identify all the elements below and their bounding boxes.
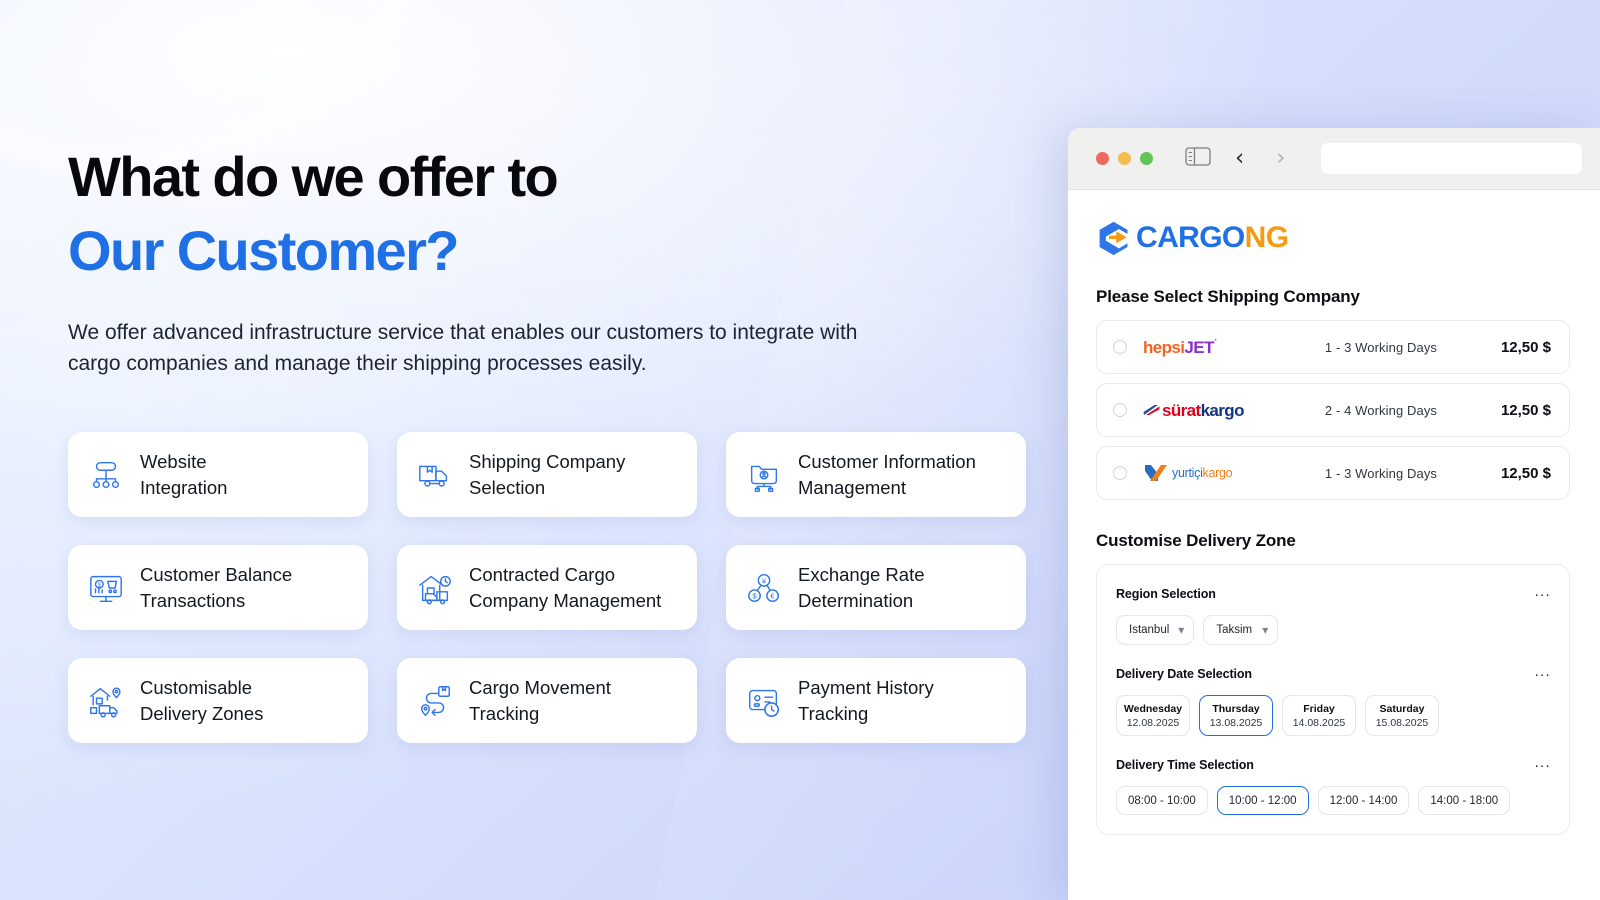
feature-card[interactable]: CustomisableDelivery Zones — [68, 658, 368, 743]
time-option-range: 14:00 - 18:00 — [1430, 795, 1498, 807]
feature-card-label: Customer BalanceTransactions — [140, 562, 292, 613]
svg-text:€: € — [770, 591, 775, 600]
feature-card-line1: Contracted Cargo — [469, 564, 615, 585]
date-option-weekday: Saturday — [1380, 703, 1425, 715]
svg-text:$: $ — [752, 591, 757, 600]
feature-card[interactable]: ¥$€Exchange RateDetermination — [726, 545, 1026, 630]
date-option[interactable]: Saturday15.08.2025 — [1365, 695, 1439, 736]
surat-swoosh-icon — [1143, 404, 1160, 416]
feature-card[interactable]: Contracted CargoCompany Management — [397, 545, 697, 630]
hero-subtitle: We offer advanced infrastructure service… — [68, 318, 878, 380]
shipping-section-title: Please Select Shipping Company — [1096, 287, 1600, 307]
suratkargo-wordmark: süratkargo — [1143, 402, 1244, 419]
page-title: What do we offer to Our Customer? — [68, 140, 1028, 288]
carrier-delivery-days: 2 - 4 Working Days — [1261, 403, 1501, 418]
close-window-button[interactable] — [1096, 152, 1109, 165]
warehouse-clock-icon — [416, 569, 454, 607]
date-option[interactable]: Friday14.08.2025 — [1282, 695, 1356, 736]
hepsijet-wordmark: hepsiJET´ — [1143, 339, 1217, 356]
chevron-left-icon[interactable]: ‹ — [1235, 147, 1244, 170]
carrier-price: 12,50 $ — [1501, 402, 1551, 419]
city-select-value: Istanbul — [1129, 624, 1169, 636]
monitor-cart-icon: $ — [87, 569, 125, 607]
feature-card-label: Exchange RateDetermination — [798, 562, 925, 613]
time-option-range: 10:00 - 12:00 — [1229, 795, 1297, 807]
feature-card[interactable]: Cargo MovementTracking — [397, 658, 697, 743]
district-select[interactable]: Taksim ▾ — [1203, 615, 1278, 645]
feature-card-line1: Website — [140, 451, 207, 472]
feature-card-label: Cargo MovementTracking — [469, 675, 611, 726]
feature-card[interactable]: WebsiteIntegration — [68, 432, 368, 517]
carrier-price: 12,50 $ — [1501, 465, 1551, 482]
time-ellipsis-icon[interactable]: ... — [1533, 753, 1553, 776]
date-option-weekday: Thursday — [1212, 703, 1259, 715]
feature-card-label: Shipping CompanySelection — [469, 449, 625, 500]
feature-card-line2: Tracking — [798, 703, 868, 724]
feature-card-line1: Cargo Movement — [469, 677, 611, 698]
date-option-date: 12.08.2025 — [1127, 717, 1180, 729]
carrier-row[interactable]: hepsiJET´1 - 3 Working Days12,50 $ — [1096, 320, 1570, 374]
date-ellipsis-icon[interactable]: ... — [1533, 662, 1553, 685]
sitemap-icon — [87, 456, 125, 494]
window-traffic-lights[interactable] — [1096, 152, 1153, 165]
feature-card-line1: Payment History — [798, 677, 934, 698]
delivery-zone-card: Region Selection ... Istanbul ▾ Taksim ▾… — [1096, 564, 1570, 835]
carrier-radio[interactable] — [1113, 340, 1127, 354]
date-option-weekday: Friday — [1303, 703, 1335, 715]
date-option-date: 13.08.2025 — [1210, 717, 1263, 729]
feature-card-line2: Delivery Zones — [140, 703, 263, 724]
time-selection-label: Delivery Time Selection — [1116, 758, 1254, 772]
carrier-radio[interactable] — [1113, 403, 1127, 417]
currency-exchange-icon: ¥$€ — [745, 569, 783, 607]
feature-card-label: CustomisableDelivery Zones — [140, 675, 263, 726]
feature-card[interactable]: $Customer BalanceTransactions — [68, 545, 368, 630]
time-option[interactable]: 08:00 - 10:00 — [1116, 786, 1208, 815]
time-option-range: 08:00 - 10:00 — [1128, 795, 1196, 807]
city-select[interactable]: Istanbul ▾ — [1116, 615, 1194, 645]
page-title-line2: Our Customer? — [68, 214, 1028, 288]
yurticikargo-wordmark: yurtiçikargo — [1143, 463, 1232, 483]
time-option[interactable]: 10:00 - 12:00 — [1217, 786, 1309, 815]
cargong-hex-arrow-logo — [1096, 220, 1132, 256]
carrier-logo: süratkargo — [1143, 402, 1261, 419]
date-option-date: 14.08.2025 — [1293, 717, 1346, 729]
carrier-row[interactable]: süratkargo2 - 4 Working Days12,50 $ — [1096, 383, 1570, 437]
district-select-value: Taksim — [1216, 624, 1252, 636]
feature-card-label: Payment HistoryTracking — [798, 675, 934, 726]
date-option[interactable]: Thursday13.08.2025 — [1199, 695, 1273, 736]
carrier-logo: hepsiJET´ — [1143, 339, 1261, 356]
zone-section-title: Customise Delivery Zone — [1096, 531, 1600, 551]
chevron-down-icon: ▾ — [1262, 623, 1268, 637]
hero-section: What do we offer to Our Customer? We off… — [68, 140, 1028, 380]
date-option[interactable]: Wednesday12.08.2025 — [1116, 695, 1190, 736]
date-option-date: 15.08.2025 — [1376, 717, 1429, 729]
feature-card-line1: Customisable — [140, 677, 252, 698]
carrier-delivery-days: 1 - 3 Working Days — [1261, 466, 1501, 481]
feature-card-line1: Shipping Company — [469, 451, 625, 472]
date-selection-label: Delivery Date Selection — [1116, 667, 1252, 681]
delivery-truck-icon — [416, 456, 454, 494]
region-selection-header: Region Selection ... — [1116, 582, 1553, 605]
feature-card-line2: Company Management — [469, 590, 661, 611]
region-ellipsis-icon[interactable]: ... — [1533, 582, 1553, 605]
feature-card-line2: Integration — [140, 477, 227, 498]
feature-card-label: WebsiteIntegration — [140, 449, 227, 500]
feature-card-line1: Customer Balance — [140, 564, 292, 585]
date-selection-header: Delivery Date Selection ... — [1116, 662, 1553, 685]
route-package-icon — [416, 682, 454, 720]
feature-card-grid: WebsiteIntegrationShipping CompanySelect… — [68, 432, 1028, 743]
feature-card[interactable]: Shipping CompanySelection — [397, 432, 697, 517]
sidebar-toggle-icon[interactable] — [1185, 147, 1211, 171]
chevron-right-icon[interactable]: › — [1276, 147, 1285, 170]
carrier-row[interactable]: yurtiçikargo1 - 3 Working Days12,50 $ — [1096, 446, 1570, 500]
feature-card-label: Contracted CargoCompany Management — [469, 562, 661, 613]
carrier-price: 12,50 $ — [1501, 339, 1551, 356]
date-option-weekday: Wednesday — [1124, 703, 1182, 715]
card-history-icon — [745, 682, 783, 720]
feature-card-line1: Customer Information — [798, 451, 976, 472]
feature-card-label: Customer InformationManagement — [798, 449, 976, 500]
feature-card-line1: Exchange Rate — [798, 564, 925, 585]
minimize-window-button[interactable] — [1118, 152, 1131, 165]
maximize-window-button[interactable] — [1140, 152, 1153, 165]
app-page: CARGONG Please Select Shipping Company h… — [1068, 190, 1600, 835]
chevron-down-icon: ▾ — [1178, 623, 1184, 637]
region-selection-label: Region Selection — [1116, 587, 1216, 601]
feature-card-line2: Tracking — [469, 703, 539, 724]
cargong-logo: CARGONG — [1096, 220, 1600, 256]
feature-card[interactable]: Payment HistoryTracking — [726, 658, 1026, 743]
browser-window: ‹ › CARGONG Please Select Shipping Compa… — [1068, 128, 1600, 900]
browser-chrome: ‹ › — [1068, 128, 1600, 190]
carrier-list: hepsiJET´1 - 3 Working Days12,50 $süratk… — [1096, 320, 1570, 500]
yurtici-x-icon — [1143, 463, 1169, 483]
feature-card-line2: Transactions — [140, 590, 245, 611]
url-input[interactable] — [1321, 143, 1582, 174]
time-option-range: 12:00 - 14:00 — [1330, 795, 1398, 807]
carrier-radio[interactable] — [1113, 466, 1127, 480]
feature-card-line2: Determination — [798, 590, 913, 611]
region-dropdown-row: Istanbul ▾ Taksim ▾ — [1116, 615, 1553, 645]
warehouse-pin-truck-icon — [87, 682, 125, 720]
feature-card[interactable]: Customer InformationManagement — [726, 432, 1026, 517]
time-option[interactable]: 12:00 - 14:00 — [1318, 786, 1410, 815]
date-option-row: Wednesday12.08.2025Thursday13.08.2025Fri… — [1116, 695, 1553, 736]
page-title-line1: What do we offer to — [68, 140, 1028, 214]
carrier-logo: yurtiçikargo — [1143, 463, 1261, 483]
time-option[interactable]: 14:00 - 18:00 — [1418, 786, 1510, 815]
time-option-row: 08:00 - 10:0010:00 - 12:0012:00 - 14:001… — [1116, 786, 1553, 815]
customer-folder-icon — [745, 456, 783, 494]
cargong-wordmark: CARGONG — [1136, 221, 1288, 255]
feature-card-line2: Selection — [469, 477, 545, 498]
svg-text:¥: ¥ — [762, 576, 767, 585]
logo-text-cargo: CARGO — [1136, 221, 1245, 254]
feature-card-line2: Management — [798, 477, 906, 498]
logo-text-ng: NG — [1245, 221, 1289, 254]
time-selection-header: Delivery Time Selection ... — [1116, 753, 1553, 776]
carrier-delivery-days: 1 - 3 Working Days — [1261, 340, 1501, 355]
